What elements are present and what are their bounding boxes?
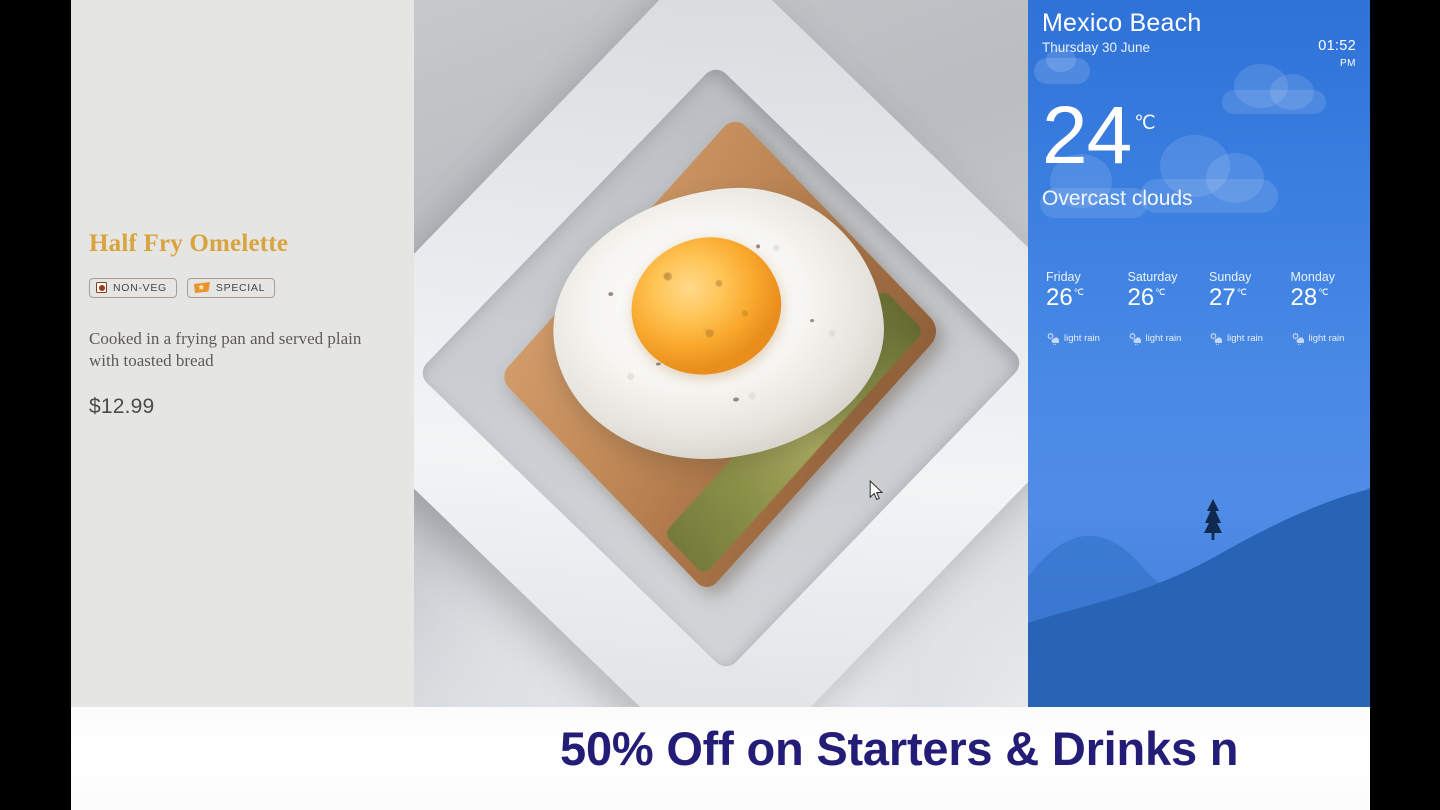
forecast-condition-row: light rain <box>1209 332 1283 345</box>
weather-time: 01:52 <box>1318 38 1356 54</box>
light-rain-icon <box>1209 332 1222 345</box>
weather-clock: 01:52 PM <box>1318 38 1356 69</box>
badge-special: SPECIAL <box>187 278 275 298</box>
cloud-icon <box>1218 62 1338 118</box>
forecast-day-label: Friday <box>1046 270 1120 284</box>
forecast-day-label: Sunday <box>1209 270 1283 284</box>
weather-meridiem: PM <box>1318 58 1356 69</box>
fried-egg-on-toast-photo <box>414 0 1028 707</box>
egg-yolk <box>617 223 795 391</box>
light-rain-icon <box>1046 332 1059 345</box>
forecast-condition-row: light rain <box>1291 332 1365 345</box>
forecast-temp: 28 <box>1291 284 1318 311</box>
pepper-fleck <box>656 363 661 367</box>
pine-tree-icon <box>1204 499 1222 540</box>
dish-badge-row: NON-VEG SPECIAL <box>89 278 399 298</box>
pepper-fleck <box>756 244 760 248</box>
badge-special-label: SPECIAL <box>216 282 265 294</box>
pepper-fleck <box>810 320 814 323</box>
menu-item-panel: Half Fry Omelette NON-VEG <box>71 0 415 707</box>
weather-temperature-unit: ℃ <box>1134 113 1155 134</box>
mouse-cursor <box>869 480 885 502</box>
forecast-temp: 26 <box>1128 284 1155 311</box>
forecast-condition: light rain <box>1309 333 1345 344</box>
badge-non-veg-label: NON-VEG <box>113 282 167 294</box>
forecast-day-friday: Friday 26℃ light rain <box>1038 270 1120 345</box>
forecast-temp: 27 <box>1209 284 1236 311</box>
forecast-day-label: Monday <box>1291 270 1365 284</box>
menu-item-content: Half Fry Omelette NON-VEG <box>89 230 399 419</box>
dish-description: Cooked in a frying pan and served plain … <box>89 328 374 374</box>
forecast-condition: light rain <box>1146 333 1182 344</box>
pepper-fleck <box>608 292 613 297</box>
nonveg-square-icon <box>96 282 107 293</box>
forecast-unit: ℃ <box>1318 287 1328 297</box>
weather-widget: Mexico Beach Thursday 30 June 01:52 PM 2… <box>1028 0 1370 707</box>
weather-date: Thursday 30 June <box>1042 40 1356 55</box>
promo-banner: 50% Off on Starters & Drinks n <box>71 707 1370 810</box>
dish-price: $12.99 <box>89 395 399 419</box>
forecast-unit: ℃ <box>1237 287 1247 297</box>
weather-current: 24℃ Overcast clouds <box>1042 98 1193 211</box>
weather-forecast-row: Friday 26℃ light rain Saturday <box>1038 270 1364 345</box>
screen-root: Half Fry Omelette NON-VEG <box>0 0 1440 810</box>
weather-condition: Overcast clouds <box>1042 187 1193 211</box>
forecast-condition: light rain <box>1227 333 1263 344</box>
forecast-unit: ℃ <box>1074 287 1084 297</box>
content-stage: Half Fry Omelette NON-VEG <box>71 0 1370 810</box>
nonveg-dot <box>99 285 105 291</box>
badge-non-veg: NON-VEG <box>89 278 177 298</box>
weather-temperature: 24 <box>1042 98 1131 173</box>
promo-banner-text: 50% Off on Starters & Drinks n <box>560 721 1238 776</box>
forecast-day-saturday: Saturday 26℃ light rain <box>1120 270 1202 345</box>
light-rain-icon <box>1128 332 1141 345</box>
forecast-condition-row: light rain <box>1128 332 1202 345</box>
forecast-temp: 26 <box>1046 284 1073 311</box>
forecast-condition-row: light rain <box>1046 332 1120 345</box>
weather-city: Mexico Beach <box>1042 8 1356 38</box>
pepper-fleck <box>732 398 738 403</box>
cloud-base <box>1222 90 1326 114</box>
forecast-condition: light rain <box>1064 333 1100 344</box>
hill-landscape-illustration <box>1028 427 1370 707</box>
forecast-unit: ℃ <box>1155 287 1165 297</box>
light-rain-icon <box>1291 332 1304 345</box>
forecast-day-label: Saturday <box>1128 270 1202 284</box>
forecast-day-monday: Monday 28℃ light rain <box>1283 270 1365 345</box>
dish-title: Half Fry Omelette <box>89 230 399 258</box>
star-icon <box>194 282 210 293</box>
forecast-day-sunday: Sunday 27℃ light rain <box>1201 270 1283 345</box>
weather-header: Mexico Beach Thursday 30 June 01:52 PM <box>1042 8 1356 55</box>
